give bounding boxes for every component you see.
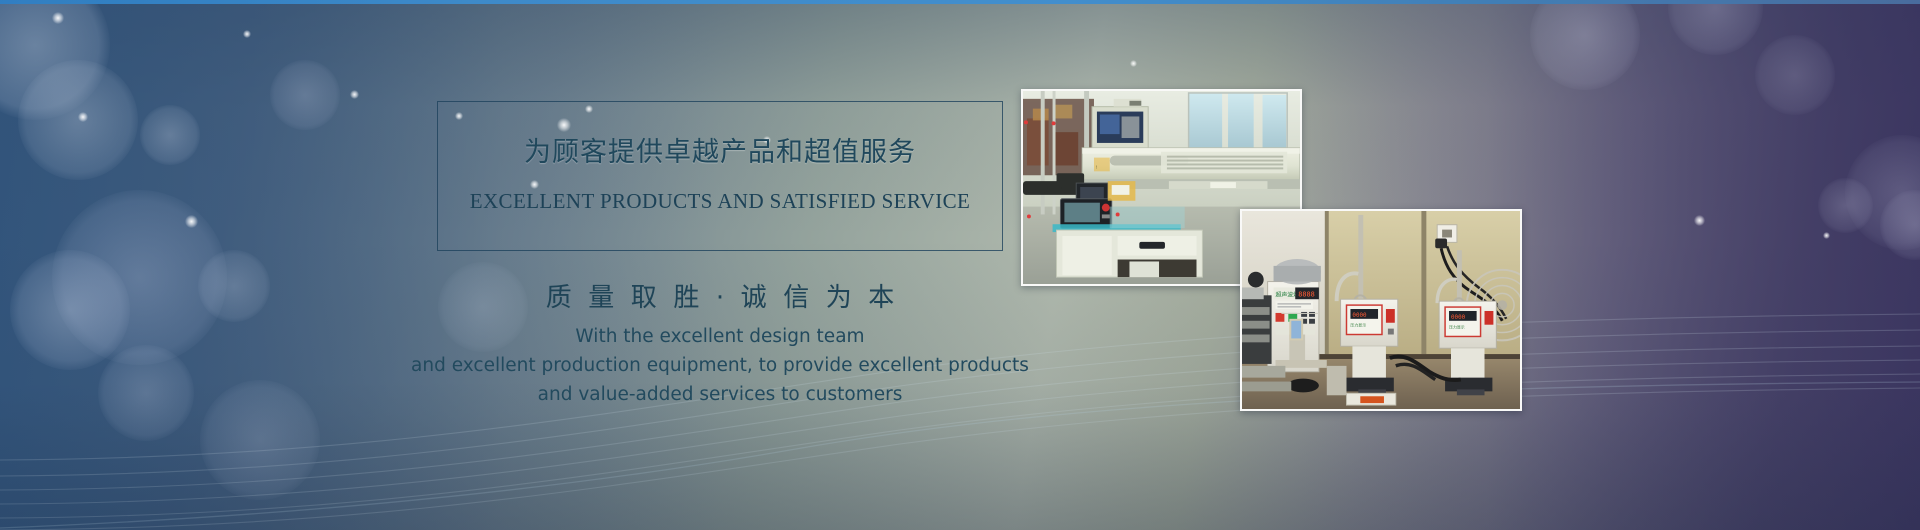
photo-workshop-presses-image: 超声波焊接机 8888 bbox=[1242, 211, 1520, 409]
headline-chinese: 为顾客提供卓越产品和超值服务 bbox=[437, 130, 1003, 169]
svg-text:8888: 8888 bbox=[1298, 290, 1315, 298]
description-line-2: and excellent production equipment, to p… bbox=[375, 351, 1065, 380]
description-paragraph: With the excellent design team and excel… bbox=[375, 322, 1065, 409]
svg-text:!: ! bbox=[1096, 164, 1097, 170]
svg-text:压力显示: 压力显示 bbox=[1350, 323, 1366, 328]
svg-text:0000: 0000 bbox=[1352, 313, 1367, 319]
description-line-3: and value-added services to customers bbox=[375, 380, 1065, 409]
photo-workshop-presses[interactable]: 超声波焊接机 8888 bbox=[1240, 209, 1522, 411]
svg-text:压力显示: 压力显示 bbox=[1449, 325, 1465, 330]
headline-english: EXCELLENT PRODUCTS AND SATISFIED SERVICE bbox=[437, 189, 1003, 214]
description-line-1: With the excellent design team bbox=[375, 322, 1065, 351]
promo-banner: 为顾客提供卓越产品和超值服务 EXCELLENT PRODUCTS AND SA… bbox=[0, 0, 1920, 530]
slogan-text-block: 为顾客提供卓越产品和超值服务 EXCELLENT PRODUCTS AND SA… bbox=[0, 0, 1100, 530]
motto-chinese: 质 量 取 胜 · 诚 信 为 本 bbox=[437, 277, 1003, 314]
headline-frame-box bbox=[437, 101, 1003, 251]
svg-text:0000: 0000 bbox=[1451, 315, 1466, 321]
